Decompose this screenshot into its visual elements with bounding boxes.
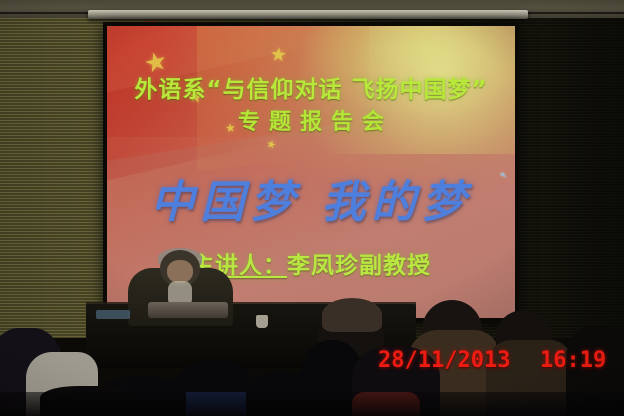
audience-hair bbox=[322, 298, 382, 332]
lecture-photograph: ★ ★ ★ ★ ★ 外语系“与信仰对话 飞扬中国梦” 专题报告会 中国梦 我的梦… bbox=[0, 0, 624, 416]
foreground-shadow bbox=[0, 392, 624, 416]
papers-on-desk bbox=[96, 310, 130, 319]
projector-screen-roller bbox=[88, 10, 528, 19]
timestamp-time: 16:19 bbox=[540, 348, 606, 373]
speaker-face bbox=[167, 260, 193, 283]
cup-on-desk bbox=[256, 315, 268, 328]
timestamp-date: 28/11/2013 bbox=[378, 348, 510, 373]
laptop-on-desk bbox=[148, 302, 228, 318]
